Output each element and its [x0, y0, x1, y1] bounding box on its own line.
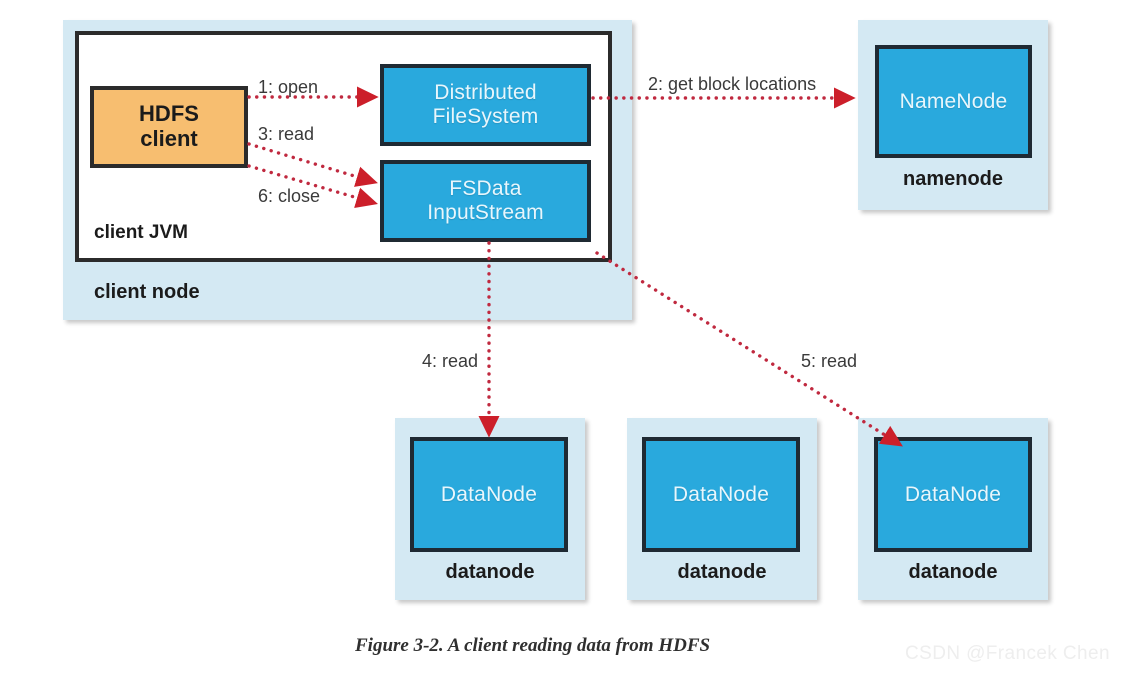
datanode-box-2[interactable]: DataNode — [642, 437, 800, 552]
fsdata-inputstream-line1: FSData — [449, 177, 521, 201]
step-label-3: 3: read — [258, 124, 314, 145]
hdfs-client-line2: client — [140, 127, 197, 152]
hdfs-client-box[interactable]: HDFS client — [90, 86, 248, 168]
datanode-component-label-3: DataNode — [905, 483, 1001, 507]
datanode-label-2: datanode — [627, 561, 817, 584]
datanode-label-1: datanode — [395, 561, 585, 584]
datanode-box-1[interactable]: DataNode — [410, 437, 568, 552]
datanode-component-label-1: DataNode — [441, 483, 537, 507]
namenode-label: namenode — [858, 168, 1048, 191]
step-label-1: 1: open — [258, 77, 318, 98]
arrow-step-5 — [597, 253, 888, 437]
step-label-6: 6: close — [258, 186, 320, 207]
datanode-component-label-2: DataNode — [673, 483, 769, 507]
distributed-filesystem-line1: Distributed — [434, 81, 537, 105]
csdn-watermark: CSDN @Francek Chen — [905, 643, 1110, 665]
hdfs-read-diagram: HDFS client Distributed FileSystem FSDat… — [0, 0, 1121, 679]
namenode-component-label: NameNode — [900, 90, 1008, 114]
fsdata-inputstream-line2: InputStream — [427, 201, 544, 225]
datanode-label-3: datanode — [858, 561, 1048, 584]
client-node-label: client node — [94, 281, 200, 304]
distributed-filesystem-box[interactable]: Distributed FileSystem — [380, 64, 591, 146]
figure-caption: Figure 3-2. A client reading data from H… — [355, 635, 710, 657]
datanode-box-3[interactable]: DataNode — [874, 437, 1032, 552]
client-jvm-label: client JVM — [94, 222, 188, 244]
step-label-5: 5: read — [801, 351, 857, 372]
step-label-4: 4: read — [422, 351, 478, 372]
distributed-filesystem-line2: FileSystem — [433, 105, 539, 129]
namenode-box[interactable]: NameNode — [875, 45, 1032, 158]
fsdata-inputstream-box[interactable]: FSData InputStream — [380, 160, 591, 242]
hdfs-client-line1: HDFS — [139, 102, 199, 127]
step-label-2: 2: get block locations — [648, 74, 816, 95]
